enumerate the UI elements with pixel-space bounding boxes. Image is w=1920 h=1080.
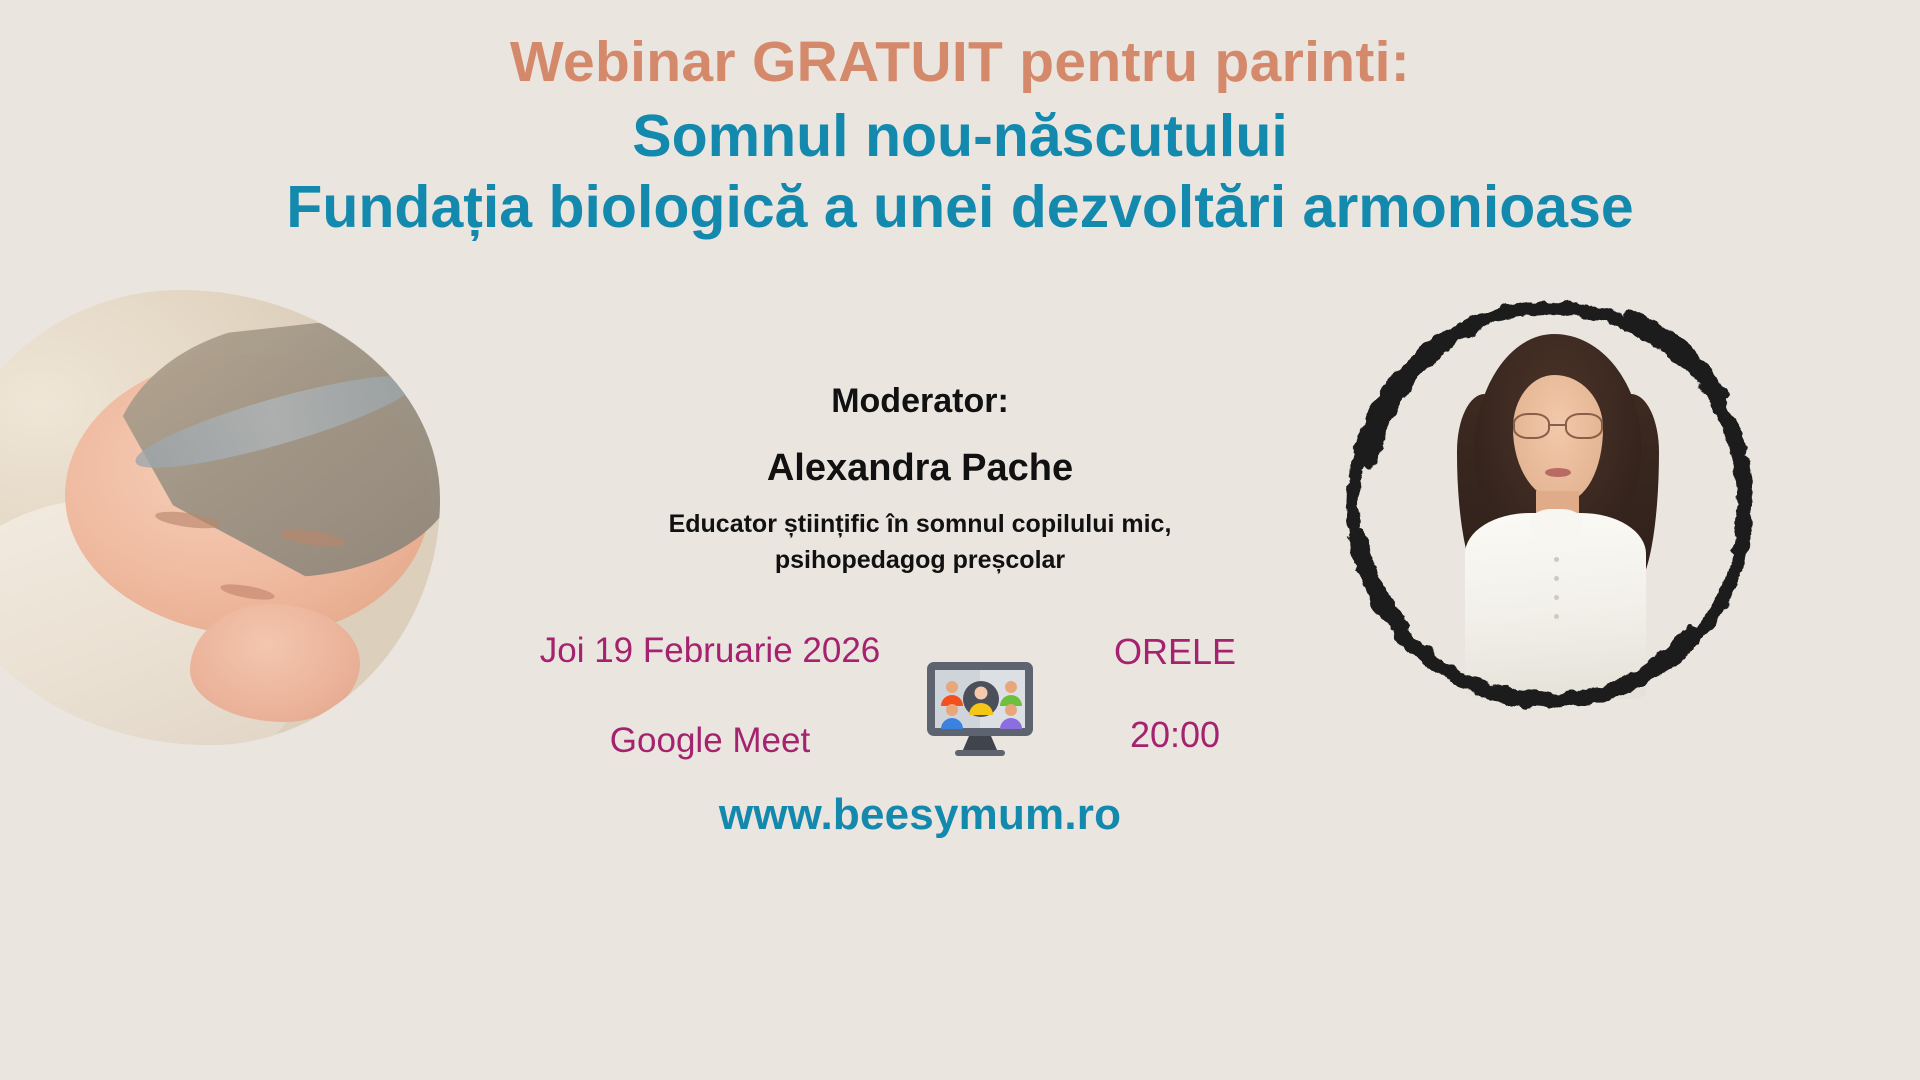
glasses-lens-left [1513, 413, 1551, 439]
headline-block: Webinar GRATUIT pentru parinti: Somnul n… [0, 30, 1920, 243]
event-time-column: ORELE 20:00 [1045, 630, 1305, 756]
headline-line-2: Somnul nou-născutului [0, 102, 1920, 172]
webinar-poster: Webinar GRATUIT pentru parinti: Somnul n… [0, 0, 1920, 1080]
portrait-buttons [1553, 543, 1559, 692]
moderator-credentials-line-2: psihopedagog preșcolar [500, 544, 1340, 578]
moderator-credentials-line-1: Educator științific în somnul copilului … [500, 508, 1340, 542]
video-call-monitor-icon [925, 660, 1035, 760]
event-details-row: Joi 19 Februarie 2026 Google Meet [500, 630, 1340, 770]
moderator-block: Moderator: Alexandra Pache Educator știi… [500, 380, 1340, 578]
moderator-portrait-block [1330, 285, 1770, 725]
headline-line-3: Fundația biologică a unei dezvoltări arm… [0, 173, 1920, 243]
moderator-label: Moderator: [500, 380, 1340, 423]
website-url[interactable]: www.beesymum.ro [500, 790, 1340, 840]
event-date: Joi 19 Februarie 2026 [500, 630, 920, 672]
glasses-bridge [1550, 424, 1564, 426]
glasses-lens-right [1565, 413, 1603, 439]
event-platform: Google Meet [500, 720, 920, 762]
event-date-column: Joi 19 Februarie 2026 Google Meet [500, 630, 920, 762]
headline-line-1: Webinar GRATUIT pentru parinti: [0, 30, 1920, 96]
baby-hand-shape [190, 604, 360, 722]
moderator-name: Alexandra Pache [500, 445, 1340, 493]
event-time-label: ORELE [1045, 630, 1305, 673]
portrait-collar [1530, 509, 1584, 542]
portrait-glasses-icon [1513, 413, 1603, 439]
sleeping-newborn-photo [0, 290, 440, 745]
event-time-value: 20:00 [1045, 713, 1305, 756]
moderator-portrait-photo [1448, 327, 1663, 699]
